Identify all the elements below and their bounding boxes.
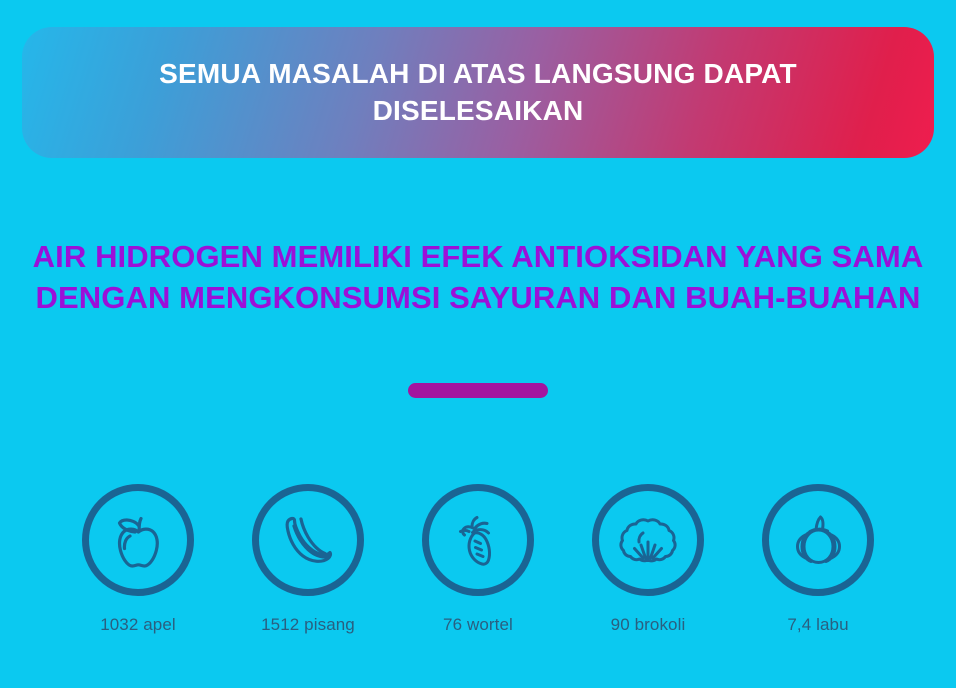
produce-label-pumpkin: 7,4 labu	[787, 615, 848, 635]
divider-container	[0, 383, 956, 398]
produce-label-carrot: 76 wortel	[443, 615, 513, 635]
headline-banner: SEMUA MASALAH DI ATAS LANGSUNG DAPAT DIS…	[22, 27, 934, 158]
produce-label-broccoli: 90 brokoli	[611, 615, 686, 635]
banana-icon-circle	[252, 484, 364, 596]
produce-item-broccoli: 90 brokoli	[563, 484, 733, 635]
produce-label-apple: 1032 apel	[100, 615, 176, 635]
produce-item-pumpkin: 7,4 labu	[733, 484, 903, 635]
produce-icon-row: 1032 apel 1512 pisang	[0, 484, 956, 635]
banana-icon	[270, 502, 346, 578]
pumpkin-icon	[780, 504, 856, 576]
produce-item-apple: 1032 apel	[53, 484, 223, 635]
produce-item-banana: 1512 pisang	[223, 484, 393, 635]
produce-item-carrot: 76 wortel	[393, 484, 563, 635]
banner-title: SEMUA MASALAH DI ATAS LANGSUNG DAPAT DIS…	[58, 56, 898, 130]
pumpkin-icon-circle	[762, 484, 874, 596]
apple-icon-circle	[82, 484, 194, 596]
carrot-icon	[442, 504, 514, 576]
broccoli-icon	[610, 504, 686, 576]
carrot-icon-circle	[422, 484, 534, 596]
produce-label-banana: 1512 pisang	[261, 615, 355, 635]
apple-icon	[101, 503, 175, 577]
page-headline: AIR HIDROGEN MEMILIKI EFEK ANTIOKSIDAN Y…	[0, 236, 956, 318]
divider-bar	[408, 383, 548, 398]
broccoli-icon-circle	[592, 484, 704, 596]
